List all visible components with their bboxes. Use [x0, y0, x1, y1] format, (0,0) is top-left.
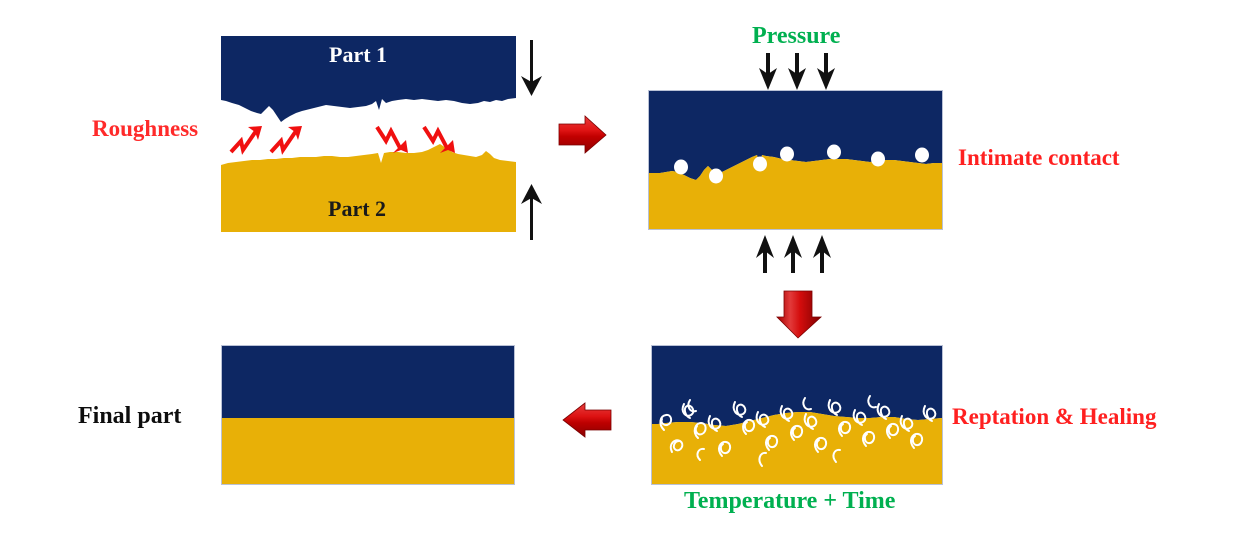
final-part-yellow-half — [222, 418, 514, 484]
pressure-arrows-bottom — [756, 235, 831, 273]
reptation-healing-label: Reptation & Healing — [952, 405, 1156, 428]
intimate-contact-label: Intimate contact — [958, 146, 1120, 169]
stage-3-reptation-healing — [652, 346, 943, 485]
pressure-arrow-down — [817, 53, 835, 90]
final-part-navy-half — [222, 346, 514, 418]
roughness-zigzag-arrows — [231, 127, 447, 152]
part1-label: Part 1 — [329, 44, 387, 66]
diagram-vector-layer — [0, 0, 1252, 550]
flow-arrow-right — [559, 116, 606, 153]
stage-2-intimate-contact — [649, 53, 943, 273]
stage-4-final-part — [222, 346, 515, 485]
contact-void-dot — [827, 145, 841, 160]
pressure-label: Pressure — [752, 24, 840, 48]
contact-void-dot — [674, 160, 688, 175]
process-diagram-canvas: Part 1 Part 2 Roughness Pressure Intimat… — [0, 0, 1252, 550]
pressure-arrow-up — [756, 235, 774, 273]
part2-label: Part 2 — [328, 198, 386, 220]
flow-arrow-down — [777, 291, 821, 338]
pressure-arrow-down — [759, 53, 777, 90]
temperature-time-label: Temperature + Time — [684, 489, 895, 513]
pressure-arrow-down — [788, 53, 806, 90]
compaction-arrow-down — [521, 40, 542, 96]
contact-void-dot — [780, 147, 794, 162]
pressure-arrow-up — [813, 235, 831, 273]
pressure-arrows-top — [759, 53, 835, 90]
flow-arrow-left — [563, 403, 611, 437]
contact-void-dot — [753, 157, 767, 172]
roughness-label: Roughness — [92, 117, 198, 140]
final-part-label: Final part — [78, 404, 181, 428]
stage3-part2-yellow — [652, 412, 942, 484]
contact-void-dot — [915, 148, 929, 163]
contact-void-dot — [871, 152, 885, 167]
pressure-arrow-up — [784, 235, 802, 273]
compaction-arrow-up — [521, 184, 542, 240]
contact-void-dot — [709, 169, 723, 184]
